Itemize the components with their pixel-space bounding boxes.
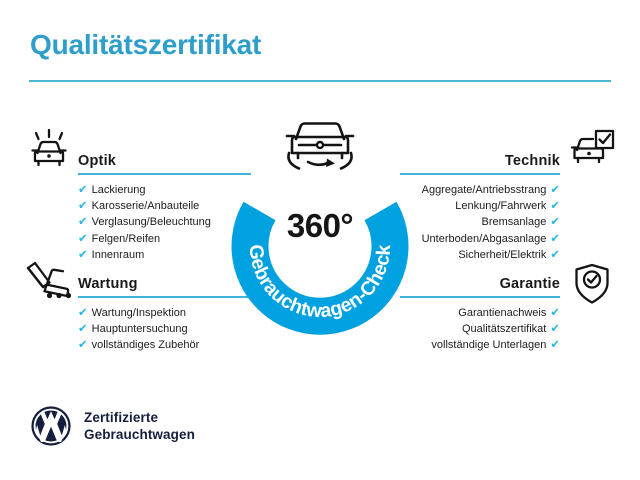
volkswagen-logo — [30, 405, 72, 447]
section-optik-divider — [78, 173, 251, 175]
volkswagen-wordmark: Zertifizierte Gebrauchtwagen — [84, 409, 195, 443]
list-item: Bremsanlage✔ — [400, 214, 560, 230]
check-icon: ✔ — [78, 339, 88, 351]
list-item: Sicherheit/Elektrik✔ — [400, 247, 560, 263]
section-garantie-header: Garantie — [400, 268, 560, 298]
section-technik-title: Technik — [505, 153, 560, 169]
check-icon: ✔ — [550, 323, 560, 335]
list-item-label: Innenraum — [92, 249, 145, 261]
service-record-icon — [23, 261, 75, 305]
check-icon: ✔ — [78, 307, 88, 319]
list-item-label: Verglasung/Beleuchtung — [92, 216, 211, 228]
car-rotation-icon — [275, 115, 365, 177]
list-item: Qualitätszertifikat✔ — [400, 321, 560, 337]
list-item-label: Bremsanlage — [482, 216, 547, 228]
check-icon: ✔ — [550, 184, 560, 196]
check-icon: ✔ — [550, 200, 560, 212]
list-item: Garantienachweis✔ — [400, 305, 560, 321]
check-icon: ✔ — [550, 307, 560, 319]
section-optik-title: Optik — [78, 153, 116, 169]
page-title: Qualitätszertifikat — [30, 30, 261, 61]
section-technik-divider — [400, 173, 560, 175]
section-garantie: Garantie Garantienachweis✔ Qualitätszert… — [400, 268, 560, 354]
section-technik-list: Aggregate/Antriebsstrang✔ Lenkung/Fahrwe… — [400, 182, 560, 263]
list-item-label: Karosserie/Anbauteile — [92, 200, 200, 212]
list-item-label: Felgen/Reifen — [92, 233, 161, 245]
list-item-label: Unterboden/Abgasanlage — [422, 233, 547, 245]
check-icon: ✔ — [78, 216, 88, 228]
list-item: ✔Verglasung/Beleuchtung — [78, 214, 251, 230]
list-item-label: Lenkung/Fahrwerk — [455, 200, 546, 212]
section-optik-list: ✔Lackierung ✔Karosserie/Anbauteile ✔Verg… — [78, 182, 251, 263]
section-optik-header: Optik — [78, 145, 251, 175]
list-item-label: Wartung/Inspektion — [92, 307, 186, 319]
vw-wordmark-line2: Gebrauchtwagen — [84, 426, 195, 443]
check-icon: ✔ — [550, 216, 560, 228]
section-optik: Optik ✔Lackierung ✔Karosserie/Anbauteile… — [78, 145, 251, 263]
list-item-label: vollständige Unterlagen — [431, 339, 546, 351]
badge-arc: Gebrauchtwagen-Check — [228, 155, 412, 339]
list-item-label: Sicherheit/Elektrik — [458, 249, 546, 261]
list-item: ✔Lackierung — [78, 182, 251, 198]
check-icon: ✔ — [78, 184, 88, 196]
section-wartung-title: Wartung — [78, 276, 138, 292]
list-item: ✔Wartung/Inspektion — [78, 305, 251, 321]
list-item-label: Hauptuntersuchung — [92, 323, 188, 335]
check-icon: ✔ — [78, 200, 88, 212]
section-garantie-title: Garantie — [500, 276, 560, 292]
section-wartung: Wartung ✔Wartung/Inspektion ✔Hauptunters… — [78, 268, 251, 354]
section-garantie-divider — [400, 296, 560, 298]
car-checkbox-icon — [568, 128, 616, 170]
list-item: vollständige Unterlagen✔ — [400, 337, 560, 353]
title-divider — [29, 80, 611, 82]
check-icon: ✔ — [78, 323, 88, 335]
check-icon: ✔ — [78, 249, 88, 261]
check-icon: ✔ — [550, 233, 560, 245]
volkswagen-certified-lockup: Zertifizierte Gebrauchtwagen — [30, 405, 195, 447]
section-wartung-list: ✔Wartung/Inspektion ✔Hauptuntersuchung ✔… — [78, 305, 251, 354]
car-polish-icon — [26, 128, 72, 172]
list-item: ✔Innenraum — [78, 247, 251, 263]
check-icon: ✔ — [550, 339, 560, 351]
list-item: ✔Felgen/Reifen — [78, 231, 251, 247]
shield-check-icon — [572, 262, 612, 306]
list-item: Unterboden/Abgasanlage✔ — [400, 231, 560, 247]
badge-degrees-label: 360° — [228, 207, 412, 245]
section-wartung-header: Wartung — [78, 268, 251, 298]
badge-360-gebrauchtwagen-check: Gebrauchtwagen-Check 360° — [228, 155, 412, 339]
list-item: ✔Hauptuntersuchung — [78, 321, 251, 337]
list-item-label: Qualitätszertifikat — [462, 323, 546, 335]
list-item-label: Lackierung — [92, 184, 146, 196]
list-item-label: Aggregate/Antriebsstrang — [422, 184, 547, 196]
list-item: Lenkung/Fahrwerk✔ — [400, 198, 560, 214]
list-item: ✔Karosserie/Anbauteile — [78, 198, 251, 214]
list-item-label: Garantienachweis — [458, 307, 546, 319]
check-icon: ✔ — [550, 249, 560, 261]
section-technik-header: Technik — [400, 145, 560, 175]
section-wartung-divider — [78, 296, 251, 298]
list-item-label: vollständiges Zubehör — [92, 339, 200, 351]
list-item: ✔vollständiges Zubehör — [78, 337, 251, 353]
check-icon: ✔ — [78, 233, 88, 245]
section-garantie-list: Garantienachweis✔ Qualitätszertifikat✔ v… — [400, 305, 560, 354]
section-technik: Technik Aggregate/Antriebsstrang✔ Lenkun… — [400, 145, 560, 263]
list-item: Aggregate/Antriebsstrang✔ — [400, 182, 560, 198]
vw-wordmark-line1: Zertifizierte — [84, 409, 195, 426]
